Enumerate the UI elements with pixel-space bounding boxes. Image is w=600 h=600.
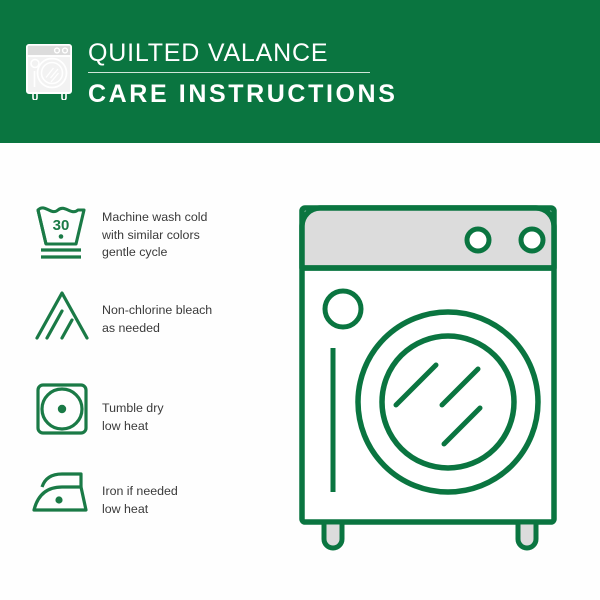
care-label-line: low heat — [102, 418, 286, 436]
non-chlorine-bleach-icon — [26, 286, 102, 344]
header-banner: QUILTED VALANCE CARE INSTRUCTIONS — [0, 0, 600, 143]
header-divider — [88, 72, 370, 73]
care-label-line: as needed — [102, 320, 286, 338]
care-instruction-row-iron: Iron if needed low heat — [26, 468, 286, 520]
care-instruction-label-wash: Machine wash cold with similar colors ge… — [102, 200, 286, 262]
washing-machine-icon — [24, 42, 76, 100]
wash-temperature-value: 30 — [53, 217, 70, 234]
header-text-block: QUILTED VALANCE CARE INSTRUCTIONS — [88, 38, 548, 109]
care-instruction-row-bleach: Non-chlorine bleach as needed — [26, 286, 286, 344]
washer-knob — [521, 229, 543, 251]
care-label-line: gentle cycle — [102, 244, 286, 262]
washer-knob — [467, 229, 489, 251]
care-label-line: Iron if needed — [102, 483, 286, 501]
iron-low-heat-icon — [26, 468, 102, 520]
care-label-line: Machine wash cold — [102, 209, 286, 227]
washer-leg — [518, 522, 536, 548]
care-label-line: Non-chlorine bleach — [102, 302, 286, 320]
front-load-washing-machine-illustration — [296, 202, 568, 558]
page-title: QUILTED VALANCE — [88, 38, 548, 68]
page-subtitle: CARE INSTRUCTIONS — [88, 79, 548, 109]
care-label-line: Tumble dry — [102, 400, 286, 418]
care-instruction-label-bleach: Non-chlorine bleach as needed — [102, 286, 286, 337]
care-instruction-label-iron: Iron if needed low heat — [102, 468, 286, 518]
care-label-line: with similar colors — [102, 227, 286, 245]
care-instruction-row-dry: Tumble dry low heat — [26, 379, 286, 439]
tumble-dry-low-heat-icon — [26, 379, 102, 439]
care-instruction-row-wash: 30 Machine wash cold with similar colors… — [26, 200, 286, 262]
machine-wash-cold-30-gentle-icon: 30 — [26, 200, 102, 262]
washer-leg — [324, 522, 342, 548]
washer-indicator-circle — [325, 291, 361, 327]
care-label-line: low heat — [102, 501, 286, 519]
care-instructions-page: QUILTED VALANCE CARE INSTRUCTIONS 30 Mac… — [0, 0, 600, 600]
care-instruction-label-dry: Tumble dry low heat — [102, 379, 286, 435]
